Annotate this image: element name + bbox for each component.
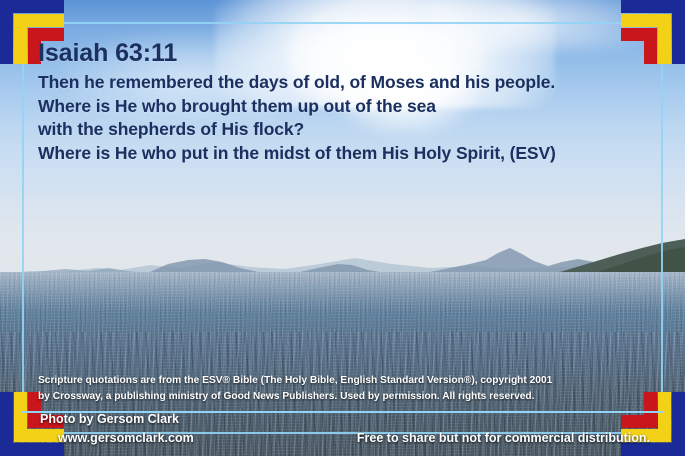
scripture-text-block: Isaiah 63:11 Then he remembered the days…	[38, 38, 638, 165]
copyright-line: Scripture quotations are from the ESV® B…	[38, 373, 638, 389]
scripture-line: Then he remembered the days of old, of M…	[38, 71, 638, 95]
copyright-line: by Crossway, a publishing ministry of Go…	[38, 389, 638, 405]
water-glint	[0, 272, 685, 312]
scripture-line: with the shepherds of His flock?	[38, 118, 638, 142]
scripture-image-card: Isaiah 63:11 Then he remembered the days…	[0, 0, 685, 456]
usage-note: Free to share but not for commercial dis…	[357, 431, 650, 445]
scripture-line: Where is He who put in the midst of them…	[38, 142, 638, 166]
copyright-notice: Scripture quotations are from the ESV® B…	[38, 373, 638, 405]
website-url[interactable]: www.gersomclark.com	[58, 431, 194, 445]
scripture-line: Where is He who brought them up out of t…	[38, 95, 638, 119]
scripture-reference: Isaiah 63:11	[38, 38, 638, 68]
